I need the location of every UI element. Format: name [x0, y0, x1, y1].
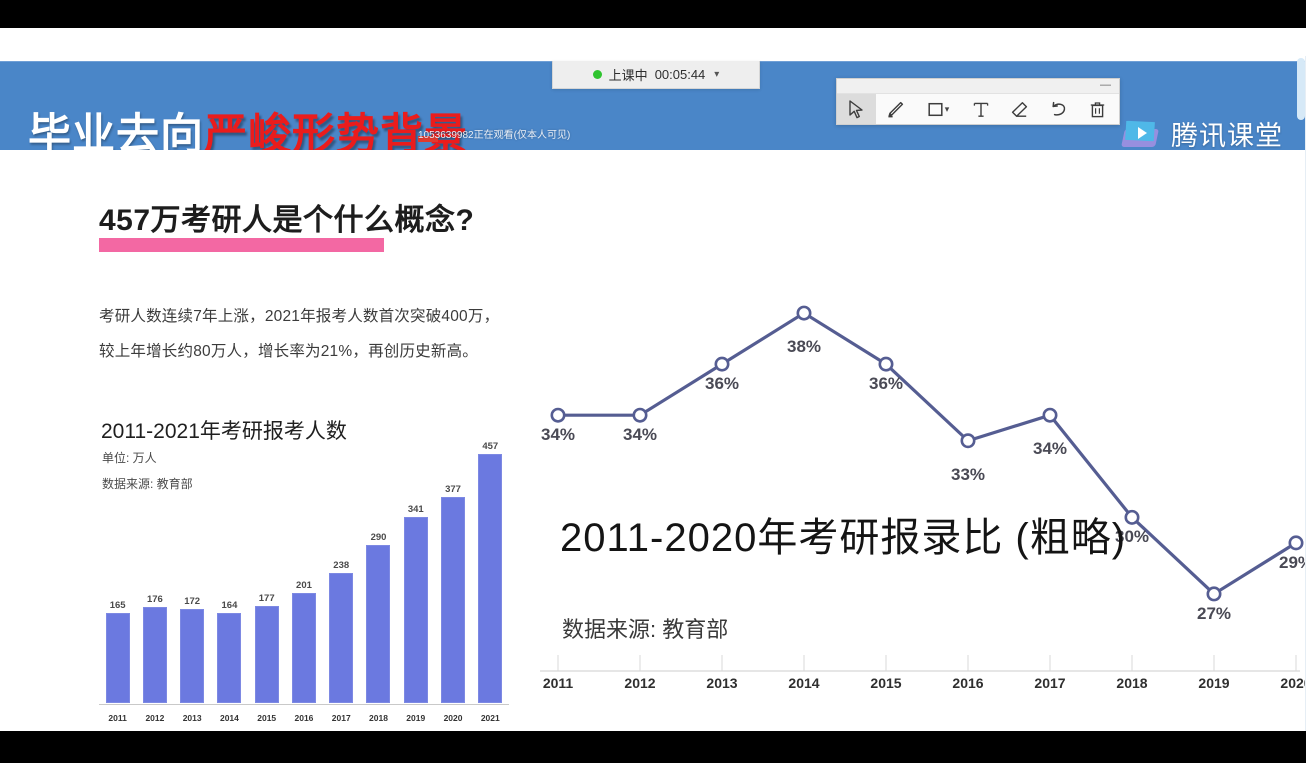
line-chart-x-labels: 2011201220132014201520162017201820192020 [530, 673, 1306, 695]
bar-rect [329, 573, 353, 703]
clear-all-tool[interactable] [1078, 94, 1117, 124]
annotation-toolbar-titlebar[interactable]: — [837, 79, 1119, 94]
line-value-label: 34% [1033, 439, 1067, 459]
class-status-pill[interactable]: 上课中 00:05:44 ▾ [552, 61, 760, 89]
heading-underline [99, 238, 384, 252]
bar-rect [404, 517, 428, 703]
minimize-button[interactable]: — [1100, 81, 1111, 90]
class-status-label: 上课中 [609, 65, 648, 84]
line-value-label: 27% [1197, 604, 1231, 624]
line-x-label: 2019 [1198, 675, 1229, 691]
bar-value-label: 238 [333, 560, 349, 571]
class-timer: 00:05:44 [655, 67, 706, 82]
line-data-point [634, 409, 646, 421]
slide-content: 457万考研人是个什么概念? 考研人数连续7年上涨，2021年报考人数首次突破4… [0, 150, 1306, 731]
line-chart-source: 数据来源: 教育部 [562, 612, 728, 644]
bar-x-label: 2017 [323, 713, 360, 723]
trash-icon [1089, 100, 1106, 119]
bar-slot: 341 [397, 415, 434, 703]
bar-chart-x-axis [99, 704, 509, 705]
bar-rect [217, 613, 241, 703]
letterbox-bottom [0, 731, 1306, 763]
line-data-point [1126, 511, 1138, 523]
line-x-label: 2018 [1116, 675, 1147, 691]
line-data-point [962, 435, 974, 447]
bar-slot: 201 [285, 415, 322, 703]
line-x-label: 2015 [870, 675, 901, 691]
eraser-icon [1010, 100, 1029, 119]
bar-x-label: 2016 [285, 713, 322, 723]
bar-slot: 165 [99, 415, 136, 703]
bar-slot: 176 [136, 415, 173, 703]
bar-value-label: 341 [408, 504, 424, 515]
bar-rect [441, 497, 465, 703]
graduation-cap-play-icon [1121, 117, 1163, 151]
bar-rect [478, 454, 502, 703]
eraser-tool[interactable] [1000, 94, 1039, 124]
bar-value-label: 172 [184, 596, 200, 607]
bar-chart-plot: 165176172164177201238290341377457 [99, 415, 509, 703]
brand: 腾讯课堂 [1121, 114, 1283, 153]
line-x-label: 2014 [788, 675, 819, 691]
viewer-watermark: 1053639982正在观看(仅本人可见) [418, 126, 570, 141]
shared-screen-stage: 毕业去向严峻形势背景 1053639982正在观看(仅本人可见) 腾讯课堂 上课… [0, 28, 1306, 731]
bar-value-label: 201 [296, 580, 312, 591]
line-data-point [1044, 409, 1056, 421]
bar-slot: 164 [211, 415, 248, 703]
annotation-toolbar: — [836, 78, 1120, 125]
bar-x-label: 2013 [174, 713, 211, 723]
line-data-point [716, 358, 728, 370]
bar-slot: 172 [174, 415, 211, 703]
bar-x-label: 2020 [434, 713, 471, 723]
bar-value-label: 457 [482, 441, 498, 452]
bar-rect [106, 613, 130, 703]
bar-x-label: 2012 [136, 713, 173, 723]
line-data-point [1208, 588, 1220, 600]
line-value-label: 34% [623, 425, 657, 445]
line-x-label: 2017 [1034, 675, 1065, 691]
bar-slot: 457 [472, 415, 509, 703]
brand-name: 腾讯课堂 [1171, 114, 1283, 153]
bar-slot: 177 [248, 415, 285, 703]
line-value-label: 36% [705, 374, 739, 394]
undo-arrow-icon [1049, 100, 1068, 119]
line-chart: 34%34%36%38%36%33%34%30%27%29% 2011-2020… [530, 150, 1306, 731]
bar-value-label: 377 [445, 484, 461, 495]
pencil-icon [886, 99, 906, 119]
line-value-label: 34% [541, 425, 575, 445]
bar-rect [143, 607, 167, 703]
annotation-tool-list: ▾ [837, 94, 1119, 124]
text-tool[interactable] [961, 94, 1000, 124]
bar-rect [255, 606, 279, 703]
line-x-label: 2016 [952, 675, 983, 691]
line-data-point [798, 307, 810, 319]
letterbox-top [0, 0, 1306, 28]
line-chart-title: 2011-2020年考研报录比 (粗略) [560, 505, 1126, 563]
bar-x-label: 2014 [211, 713, 248, 723]
line-value-label: 36% [869, 374, 903, 394]
bar-slot: 290 [360, 415, 397, 703]
square-icon [927, 101, 944, 118]
bar-x-label: 2019 [397, 713, 434, 723]
undo-tool[interactable] [1039, 94, 1078, 124]
line-x-label: 2013 [706, 675, 737, 691]
bar-rect [180, 609, 204, 703]
bar-slot: 238 [323, 415, 360, 703]
bar-x-label: 2021 [472, 713, 509, 723]
bar-slot: 377 [434, 415, 471, 703]
bar-x-label: 2011 [99, 713, 136, 723]
page-scrollbar-track[interactable] [1296, 28, 1306, 731]
line-data-point [880, 358, 892, 370]
bar-chart-x-labels: 2011201220132014201520162017201820192020… [99, 713, 509, 723]
slide-body-text: 考研人数连续7年上涨，2021年报考人数首次突破400万，较上年增长约80万人，… [99, 300, 504, 370]
bar-value-label: 176 [147, 594, 163, 605]
select-tool[interactable] [837, 94, 876, 124]
text-t-icon [972, 100, 990, 119]
bar-value-label: 164 [222, 600, 238, 611]
live-dot-icon [593, 70, 602, 79]
bar-x-label: 2015 [248, 713, 285, 723]
shape-tool[interactable]: ▾ [915, 94, 961, 124]
bar-rect [366, 545, 390, 703]
bar-value-label: 177 [259, 593, 275, 604]
chevron-down-icon[interactable]: ▾ [714, 69, 719, 80]
slide-left-column: 457万考研人是个什么概念? 考研人数连续7年上涨，2021年报考人数首次突破4… [0, 150, 530, 731]
bar-value-label: 165 [110, 600, 126, 611]
slide-heading: 457万考研人是个什么概念? [99, 195, 474, 239]
line-x-label: 2011 [543, 675, 573, 691]
bar-chart: 2011-2021年考研报考人数 单位: 万人 数据来源: 教育部 165176… [85, 403, 515, 731]
live-class-screen: 毕业去向严峻形势背景 1053639982正在观看(仅本人可见) 腾讯课堂 上课… [0, 0, 1306, 763]
cursor-arrow-icon [848, 100, 865, 119]
pen-tool[interactable] [876, 94, 915, 124]
line-x-label: 2012 [624, 675, 655, 691]
bar-x-label: 2018 [360, 713, 397, 723]
line-value-label: 38% [787, 337, 821, 357]
line-value-label: 33% [951, 465, 985, 485]
line-data-point [552, 409, 564, 421]
page-scrollbar-thumb[interactable] [1297, 58, 1305, 120]
bar-value-label: 290 [371, 532, 387, 543]
bar-rect [292, 593, 316, 703]
chevron-down-icon[interactable]: ▾ [945, 104, 950, 115]
